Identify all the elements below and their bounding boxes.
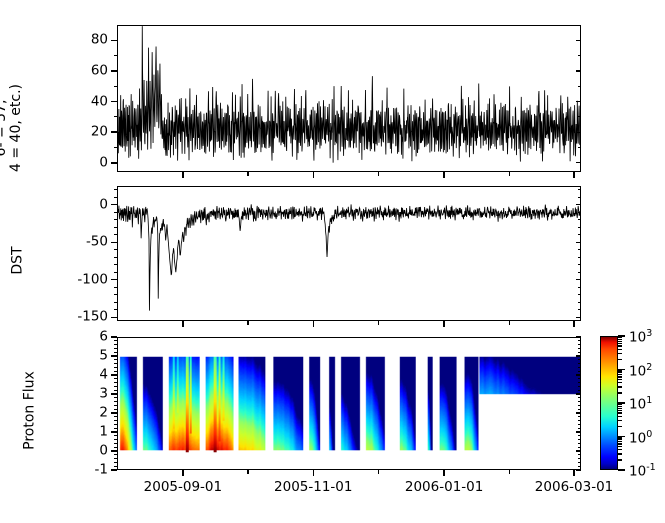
colorbar-gradient — [600, 336, 618, 470]
colorbar-minor-tick — [618, 426, 622, 427]
colorbar-minor-tick — [618, 420, 622, 421]
colorbar-minor-tick — [618, 406, 622, 407]
xtick-label: 2005-11-01 — [274, 481, 352, 495]
colorbar-minor-tick — [618, 416, 622, 417]
colorbar-minor-tick — [618, 343, 622, 344]
colorbar-tick-label: 102 — [629, 361, 652, 379]
xtick-label: 2005-09-01 — [144, 481, 222, 495]
flux-ytick-label: 4 — [99, 368, 108, 382]
colorbar-minor-tick — [618, 341, 622, 342]
colorbar-minor-tick — [618, 439, 622, 440]
colorbar-minor-tick — [618, 408, 622, 409]
colorbar-minor-tick — [618, 359, 622, 360]
colorbar-minor-tick — [618, 446, 622, 447]
colorbar-minor-tick — [618, 449, 622, 450]
colorbar-tick-label: 10-1 — [629, 461, 656, 479]
dst-ytick-label: 0 — [99, 198, 108, 212]
colorbar-tick-label: 100 — [629, 428, 652, 446]
flux-ytick-label: 5 — [99, 349, 108, 363]
figure-canvas: 806040200 Kp (e.g. 3+ = 33, 6- = 57, 4 =… — [0, 0, 665, 523]
colorbar-minor-tick — [618, 374, 622, 375]
kp-ytick-label: 20 — [91, 125, 108, 139]
colorbar-tick-label: 101 — [629, 394, 652, 412]
colorbar-minor-tick — [618, 459, 622, 460]
colorbar-minor-tick — [618, 441, 622, 442]
flux-ytick-label: 1 — [99, 425, 108, 439]
kp-ytick-label: 80 — [91, 34, 108, 48]
colorbar-tick-label: 103 — [629, 327, 652, 345]
dst-ytick-label: -100 — [77, 273, 108, 287]
colorbar-tick — [618, 469, 625, 470]
dst-axis-title: DST — [11, 201, 26, 321]
colorbar-minor-tick — [618, 337, 622, 338]
kp-ytick-label: 0 — [99, 156, 108, 170]
kp-axis-ticks: 806040200 — [117, 25, 581, 172]
xtick-label: 2006-01-01 — [405, 481, 483, 495]
colorbar-minor-tick — [618, 339, 622, 340]
colorbar-minor-tick — [618, 443, 622, 444]
colorbar-minor-tick — [618, 370, 622, 371]
kp-ytick-label: 40 — [91, 95, 108, 109]
colorbar-minor-tick — [618, 345, 622, 346]
colorbar-minor-tick — [618, 382, 622, 383]
proton-flux-axis-title: Proton Flux — [23, 336, 38, 486]
colorbar-minor-tick — [618, 437, 622, 438]
xtick-label: 2006-03-01 — [535, 481, 613, 495]
flux-ytick-label: 2 — [99, 406, 108, 420]
dst-ytick-label: -150 — [77, 311, 108, 325]
kp-axis-title: Kp (e.g. 3+ = 33, 6- = 57, 4 = 40, etc.) — [0, 43, 24, 213]
colorbar-minor-tick — [618, 392, 622, 393]
flux-ytick-label: -1 — [95, 463, 108, 477]
colorbar-minor-tick — [618, 379, 622, 380]
flux-ytick-label: 6 — [99, 330, 108, 344]
dst-ytick-label: -50 — [86, 236, 108, 250]
colorbar-minor-tick — [618, 412, 622, 413]
kp-ytick-label: 60 — [91, 64, 108, 78]
kp-axis-title-line4: 4 = 40, etc.) — [9, 43, 24, 213]
colorbar-minor-tick — [618, 386, 622, 387]
colorbar-minor-tick — [618, 372, 622, 373]
colorbar-minor-tick — [618, 404, 622, 405]
colorbar-minor-tick — [618, 410, 622, 411]
colorbar-minor-tick — [618, 353, 622, 354]
flux-ytick-label: 3 — [99, 387, 108, 401]
colorbar-minor-tick — [618, 453, 622, 454]
flux-ytick-label: 0 — [99, 444, 108, 458]
colorbar: 10310210110010-1 — [600, 336, 618, 470]
colorbar-minor-tick — [618, 349, 622, 350]
proton-flux-axis-ticks: 6543210-12005-09-012005-11-012006-01-012… — [117, 337, 581, 470]
dst-axis-ticks: 0-50-100-150 — [117, 186, 581, 321]
colorbar-minor-tick — [618, 376, 622, 377]
